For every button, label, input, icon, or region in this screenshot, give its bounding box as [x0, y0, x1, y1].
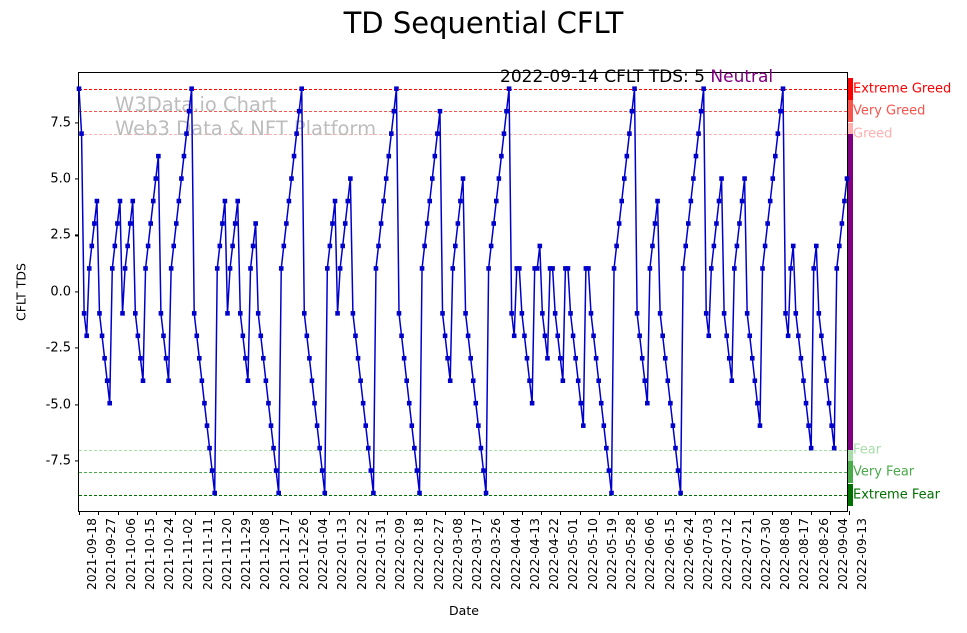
series-svg — [79, 73, 847, 511]
x-tick-mark — [426, 511, 427, 515]
data-point — [553, 311, 558, 316]
data-point — [171, 244, 176, 249]
x-tick-label: 2021-12-17 — [277, 518, 292, 590]
x-tick-mark — [637, 511, 638, 515]
x-tick-mark — [811, 511, 812, 515]
data-point — [686, 221, 691, 226]
data-point — [315, 423, 320, 428]
data-point — [397, 311, 402, 316]
data-point — [253, 221, 258, 226]
x-tick-label: 2022-02-27 — [431, 518, 446, 590]
data-point — [745, 311, 750, 316]
data-point — [251, 244, 256, 249]
data-point — [363, 423, 368, 428]
data-point — [422, 244, 427, 249]
data-point — [709, 266, 714, 271]
data-point — [120, 311, 125, 316]
x-tick-mark — [791, 511, 792, 515]
x-tick-label: 2022-08-08 — [777, 518, 792, 590]
x-tick-mark — [329, 511, 330, 515]
data-point — [394, 86, 399, 91]
data-point — [650, 244, 655, 249]
data-point — [379, 221, 384, 226]
x-tick-label: 2022-04-04 — [508, 518, 523, 590]
zone-color-bar — [848, 78, 853, 100]
data-point — [811, 266, 816, 271]
data-point — [550, 266, 555, 271]
data-point — [619, 199, 624, 204]
data-point — [489, 244, 494, 249]
data-point — [161, 334, 166, 339]
data-point — [463, 311, 468, 316]
data-point — [660, 334, 665, 339]
data-point — [742, 176, 747, 181]
x-tick-label: 2021-11-20 — [219, 518, 234, 590]
data-point — [141, 378, 146, 383]
zone-label: Extreme Fear — [853, 487, 940, 502]
data-point — [699, 109, 704, 114]
data-point — [461, 176, 466, 181]
data-point — [658, 311, 663, 316]
x-tick-mark — [252, 511, 253, 515]
data-point — [369, 468, 374, 473]
data-point — [389, 131, 394, 136]
data-point — [202, 401, 207, 406]
data-point — [706, 334, 711, 339]
data-point — [92, 221, 97, 226]
data-point — [330, 221, 335, 226]
x-tick-label: 2022-06-24 — [681, 518, 696, 590]
data-point — [123, 266, 128, 271]
data-point — [312, 401, 317, 406]
x-tick-label: 2022-01-22 — [354, 518, 369, 590]
y-tick-label: -5.0 — [46, 397, 71, 412]
data-point — [837, 244, 842, 249]
x-tick-label: 2022-09-04 — [835, 518, 850, 590]
data-point — [735, 244, 740, 249]
data-point — [525, 356, 530, 361]
x-tick-mark — [175, 511, 176, 515]
data-point — [499, 154, 504, 159]
data-point — [225, 311, 230, 316]
data-point — [814, 244, 819, 249]
data-point — [755, 401, 760, 406]
data-point — [834, 266, 839, 271]
data-point — [320, 468, 325, 473]
data-point — [274, 468, 279, 473]
data-point — [433, 154, 438, 159]
data-point — [486, 266, 491, 271]
data-point — [130, 199, 135, 204]
x-tick-mark — [830, 511, 831, 515]
data-point — [476, 423, 481, 428]
data-point — [817, 311, 822, 316]
data-point — [346, 199, 351, 204]
data-point — [233, 221, 238, 226]
data-point — [218, 244, 223, 249]
data-point — [561, 378, 566, 383]
data-point — [630, 109, 635, 114]
x-tick-label: 2022-01-31 — [373, 518, 388, 590]
data-point — [458, 199, 463, 204]
data-point — [758, 423, 763, 428]
data-point — [653, 221, 658, 226]
data-point — [581, 423, 586, 428]
data-point — [166, 378, 171, 383]
data-point — [402, 356, 407, 361]
data-point — [765, 221, 770, 226]
data-point — [809, 446, 814, 451]
data-point — [829, 423, 834, 428]
data-point — [238, 311, 243, 316]
data-point — [151, 199, 156, 204]
data-point — [497, 176, 502, 181]
x-tick-label: 2022-07-30 — [758, 518, 773, 590]
data-point — [115, 221, 120, 226]
data-point — [407, 401, 412, 406]
data-point — [417, 491, 422, 496]
data-point — [576, 378, 581, 383]
data-point — [143, 266, 148, 271]
data-point — [566, 266, 571, 271]
data-point — [502, 131, 507, 136]
x-tick-label: 2022-01-04 — [315, 518, 330, 590]
data-point — [348, 176, 353, 181]
data-point — [154, 176, 159, 181]
data-point — [376, 244, 381, 249]
data-point — [678, 491, 683, 496]
data-point — [271, 446, 276, 451]
data-point — [294, 131, 299, 136]
data-point — [440, 311, 445, 316]
data-point — [786, 334, 791, 339]
data-point — [799, 356, 804, 361]
x-tick-label: 2022-04-22 — [546, 518, 561, 590]
data-point — [381, 199, 386, 204]
data-point — [694, 154, 699, 159]
x-tick-label: 2021-09-18 — [84, 518, 99, 590]
x-tick-mark — [214, 511, 215, 515]
data-point — [392, 109, 397, 114]
data-point — [128, 221, 133, 226]
data-point — [351, 311, 356, 316]
data-point — [602, 423, 607, 428]
data-point — [282, 244, 287, 249]
data-point — [261, 356, 266, 361]
data-point — [494, 199, 499, 204]
x-tick-mark — [695, 511, 696, 515]
data-point — [333, 199, 338, 204]
data-point — [689, 199, 694, 204]
data-point — [340, 244, 345, 249]
data-point — [776, 131, 781, 136]
x-tick-label: 2021-11-02 — [180, 518, 195, 590]
data-point — [635, 311, 640, 316]
data-point — [343, 221, 348, 226]
data-point — [279, 266, 284, 271]
data-point — [297, 109, 302, 114]
data-point — [760, 266, 765, 271]
data-point — [110, 266, 115, 271]
data-point — [527, 378, 532, 383]
data-point — [627, 131, 632, 136]
data-point — [420, 266, 425, 271]
data-point — [591, 334, 596, 339]
data-point — [484, 491, 489, 496]
data-point — [235, 199, 240, 204]
data-point — [747, 334, 752, 339]
x-tick-mark — [272, 511, 273, 515]
x-tick-mark — [849, 511, 850, 515]
data-point — [822, 356, 827, 361]
data-point — [102, 356, 107, 361]
data-point — [184, 131, 189, 136]
data-point — [100, 334, 105, 339]
x-tick-label: 2021-11-11 — [200, 518, 215, 590]
data-point — [77, 86, 82, 91]
data-point — [509, 311, 514, 316]
data-point — [732, 266, 737, 271]
data-point — [299, 86, 304, 91]
data-point — [683, 244, 688, 249]
data-point — [804, 401, 809, 406]
data-point — [545, 356, 550, 361]
data-point — [415, 468, 420, 473]
data-point — [701, 86, 706, 91]
x-tick-mark — [406, 511, 407, 515]
data-point — [737, 221, 742, 226]
data-point — [558, 356, 563, 361]
data-point — [84, 334, 89, 339]
x-tick-mark — [580, 511, 581, 515]
data-point — [200, 378, 205, 383]
plot-area: CFLT TDS Date 7.55.02.50.0-2.5-5.0-7.5 2… — [78, 72, 848, 512]
data-point — [159, 311, 164, 316]
data-point — [806, 423, 811, 428]
data-point — [322, 491, 327, 496]
data-point — [97, 311, 102, 316]
data-point — [586, 266, 591, 271]
data-point — [824, 378, 829, 383]
data-point — [740, 199, 745, 204]
data-point — [491, 221, 496, 226]
data-point — [269, 423, 274, 428]
data-point — [448, 378, 453, 383]
data-point — [573, 356, 578, 361]
data-point — [374, 266, 379, 271]
y-tick-label: 0.0 — [50, 284, 71, 299]
data-point — [666, 378, 671, 383]
data-point — [555, 334, 560, 339]
x-tick-label: 2022-08-17 — [796, 518, 811, 590]
data-point — [622, 176, 627, 181]
data-point — [223, 199, 228, 204]
zone-color-bar — [848, 100, 853, 122]
data-point — [773, 154, 778, 159]
data-point — [568, 311, 573, 316]
data-point — [617, 221, 622, 226]
data-point — [438, 109, 443, 114]
x-tick-mark — [464, 511, 465, 515]
data-point — [540, 311, 545, 316]
data-point — [625, 154, 630, 159]
data-point — [479, 446, 484, 451]
data-point — [840, 221, 845, 226]
data-point — [717, 199, 722, 204]
data-point — [538, 244, 543, 249]
data-point — [366, 446, 371, 451]
data-point — [248, 266, 253, 271]
data-point — [353, 334, 358, 339]
data-point — [648, 266, 653, 271]
data-point — [719, 176, 724, 181]
data-point — [522, 334, 527, 339]
y-axis-label: CFLT TDS — [14, 263, 29, 321]
data-point — [386, 154, 391, 159]
x-tick-label: 2022-05-10 — [585, 518, 600, 590]
data-point — [361, 401, 366, 406]
zone-label: Very Greed — [853, 104, 925, 119]
data-point — [187, 109, 192, 114]
data-point — [768, 199, 773, 204]
x-tick-mark — [657, 511, 658, 515]
data-point — [230, 244, 235, 249]
data-point — [668, 401, 673, 406]
data-point — [571, 334, 576, 339]
data-point — [125, 244, 130, 249]
data-point — [105, 378, 110, 383]
x-tick-mark — [522, 511, 523, 515]
data-point — [443, 334, 448, 339]
data-point — [607, 468, 612, 473]
data-point — [796, 334, 801, 339]
x-tick-mark — [233, 511, 234, 515]
data-point — [512, 334, 517, 339]
x-tick-label: 2022-03-08 — [450, 518, 465, 590]
data-point — [207, 446, 212, 451]
x-tick-mark — [349, 511, 350, 515]
series-line — [79, 89, 847, 493]
x-tick-label: 2021-10-06 — [123, 518, 138, 590]
data-point — [517, 266, 522, 271]
y-tick-label: 2.5 — [50, 228, 71, 243]
data-point — [169, 266, 174, 271]
data-point — [520, 311, 525, 316]
data-point — [197, 356, 202, 361]
data-point — [220, 221, 225, 226]
data-point — [310, 378, 315, 383]
data-point — [655, 199, 660, 204]
x-tick-mark — [118, 511, 119, 515]
x-tick-label: 2021-10-24 — [161, 518, 176, 590]
data-point — [133, 311, 138, 316]
data-point — [371, 491, 376, 496]
x-tick-label: 2022-04-13 — [527, 518, 542, 590]
y-tick-label: -2.5 — [46, 341, 71, 356]
data-point — [243, 356, 248, 361]
data-point — [801, 378, 806, 383]
data-point — [722, 311, 727, 316]
data-point — [266, 401, 271, 406]
data-point — [182, 154, 187, 159]
data-point — [730, 378, 735, 383]
x-tick-label: 2021-11-29 — [238, 518, 253, 590]
data-point — [356, 356, 361, 361]
data-point — [791, 244, 796, 249]
data-point — [215, 266, 220, 271]
data-point — [640, 356, 645, 361]
zone-label: Greed — [853, 126, 892, 141]
data-point — [507, 86, 512, 91]
data-point — [302, 311, 307, 316]
data-point — [450, 266, 455, 271]
data-point — [599, 401, 604, 406]
data-point — [750, 356, 755, 361]
data-point — [212, 491, 217, 496]
x-tick-label: 2021-12-26 — [296, 518, 311, 590]
x-tick-mark — [195, 511, 196, 515]
data-point — [614, 244, 619, 249]
data-point — [156, 154, 161, 159]
data-point — [724, 334, 729, 339]
data-point — [192, 311, 197, 316]
x-tick-label: 2022-07-12 — [719, 518, 734, 590]
x-tick-mark — [714, 511, 715, 515]
data-point — [594, 356, 599, 361]
data-point — [435, 131, 440, 136]
data-point — [778, 109, 783, 114]
data-point — [410, 423, 415, 428]
data-point — [107, 401, 112, 406]
data-point — [474, 401, 479, 406]
x-tick-mark — [98, 511, 99, 515]
data-point — [264, 378, 269, 383]
data-point — [481, 468, 486, 473]
data-point — [289, 176, 294, 181]
x-tick-mark — [503, 511, 504, 515]
zone-color-bar — [848, 484, 853, 506]
data-point — [325, 266, 330, 271]
data-point — [284, 221, 289, 226]
zone-color-bar — [848, 461, 853, 483]
zone-label: Extreme Greed — [853, 81, 951, 96]
x-tick-label: 2021-09-27 — [103, 518, 118, 590]
x-tick-label: 2022-05-19 — [604, 518, 619, 590]
x-tick-mark — [156, 511, 157, 515]
current-value-marker — [848, 134, 853, 450]
data-point — [138, 356, 143, 361]
data-point — [258, 334, 263, 339]
data-point — [113, 244, 118, 249]
data-point — [228, 266, 233, 271]
zone-label: Very Fear — [853, 465, 914, 480]
data-point — [642, 378, 647, 383]
data-point — [604, 446, 609, 451]
data-point — [466, 334, 471, 339]
data-point — [691, 176, 696, 181]
data-point — [246, 378, 251, 383]
x-tick-label: 2022-06-06 — [642, 518, 657, 590]
x-tick-mark — [310, 511, 311, 515]
data-point — [335, 311, 340, 316]
data-point — [205, 423, 210, 428]
x-tick-mark — [368, 511, 369, 515]
data-point — [637, 334, 642, 339]
data-point — [471, 378, 476, 383]
data-point — [307, 356, 312, 361]
x-tick-label: 2022-08-26 — [816, 518, 831, 590]
x-tick-label: 2022-03-17 — [469, 518, 484, 590]
